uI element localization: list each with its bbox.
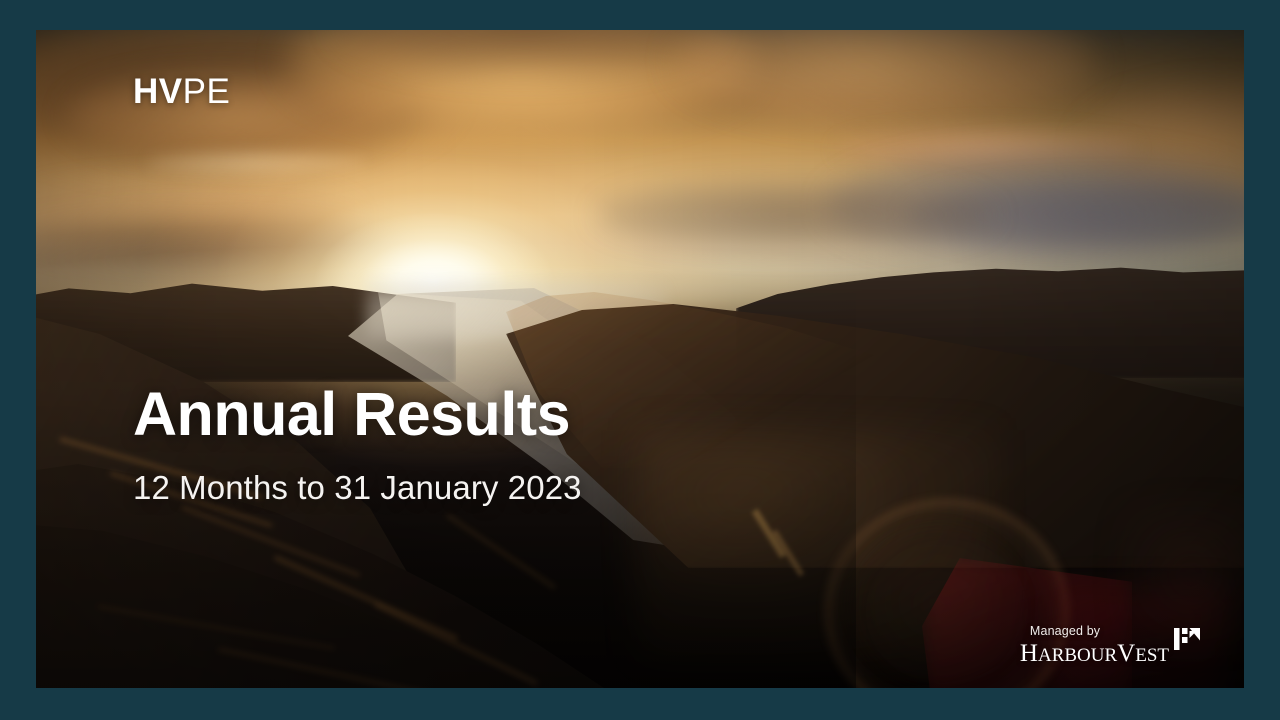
hvpe-logo[interactable]: HVPE [133, 74, 230, 109]
hvpe-logo-bold: HV [133, 72, 183, 111]
harbourvest-est: EST [1135, 645, 1169, 666]
harbourvest-square-triangle-mark [1174, 628, 1200, 650]
presentation-frame: HVPE Annual Results 12 Months to 31 Janu… [0, 0, 1280, 720]
harbourvest-wordmark: HARBOURVEST [1020, 641, 1169, 666]
slide-title: Annual Results [133, 382, 582, 447]
harbourvest-arbour: ARBOUR [1038, 645, 1117, 666]
harbourvest-wordmark-row: HARBOURVEST [1020, 641, 1200, 666]
title-block: Annual Results 12 Months to 31 January 2… [133, 382, 582, 507]
presentation-slide[interactable]: HVPE Annual Results 12 Months to 31 Janu… [36, 30, 1244, 688]
harbourvest-v: V [1117, 640, 1135, 667]
hvpe-logo-light: PE [183, 72, 231, 111]
slide-subtitle: 12 Months to 31 January 2023 [133, 469, 582, 507]
harbourvest-lockup: Managed by HARBOURVEST [1020, 624, 1200, 666]
harbourvest-h: H [1020, 640, 1038, 667]
